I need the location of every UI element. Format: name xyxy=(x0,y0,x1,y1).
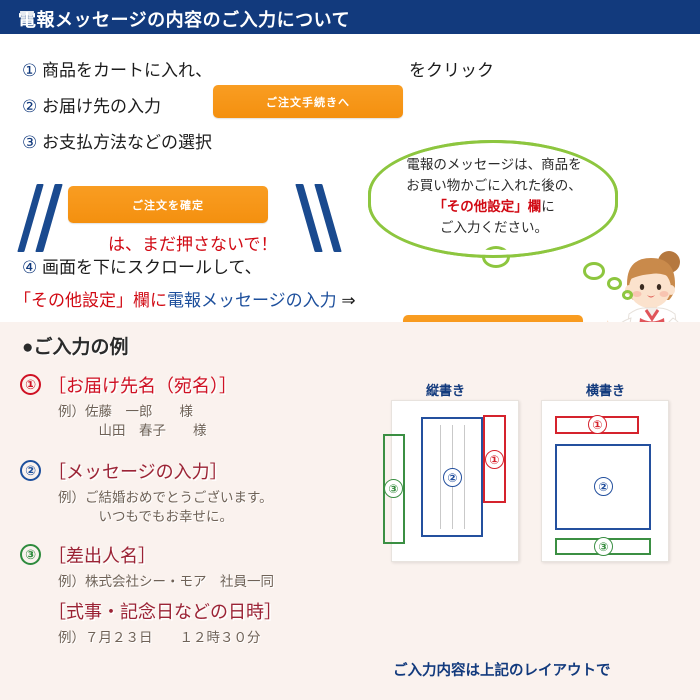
bubble-line-3-tail: に xyxy=(541,199,555,214)
horizontal-marker-1: ① xyxy=(588,415,607,434)
example-3-text: 例）株式会社シー・モア 社員一同 xyxy=(58,572,274,591)
bubble-line-3-highlight: 「その他設定」欄 xyxy=(433,199,541,214)
example-2-number-badge: ② xyxy=(20,460,41,481)
example-1-text: 例）佐藤 一郎 様 山田 春子 様 xyxy=(58,402,207,440)
step-1-row: ① 商品をカートに入れ、 xyxy=(22,56,212,81)
confirm-order-button-bottom[interactable]: ご注文を確定 xyxy=(403,315,583,322)
bubble-line-2: お買い物かごに入れた後の、 xyxy=(378,175,610,196)
vertical-marker-1: ① xyxy=(485,450,504,469)
vertical-marker-2: ② xyxy=(443,468,462,487)
thought-tail-circle-large xyxy=(583,262,605,280)
page-root: 電報メッセージの内容のご入力について ① 商品をカートに入れ、 ご注文手続きへ … xyxy=(0,0,700,700)
step-3-text: お支払方法などの選択 xyxy=(42,133,212,152)
thought-bubble-text: 電報のメッセージは、商品を お買い物かごに入れた後の、 「その他設定」欄に ご入… xyxy=(378,154,610,238)
step-2-text: お届け先の入力 xyxy=(42,97,161,116)
step-1-text-before: 商品をカートに入れ、 xyxy=(42,61,212,80)
thought-tail-circle-medium xyxy=(607,277,622,290)
instructions-panel: ① 商品をカートに入れ、 ご注文手続きへ をクリック ② お届け先の入力 ③ お… xyxy=(0,34,700,322)
vertical-marker-3: ③ xyxy=(384,479,403,498)
page-title: 電報メッセージの内容のご入力について xyxy=(18,6,350,32)
step-4-line-2-row: 「その他設定」欄に電報メッセージの入力 ⇒ xyxy=(14,286,356,311)
examples-heading: ●ご入力の例 xyxy=(22,332,128,359)
input-examples-panel: ●ご入力の例 ① ［お届け先名（宛名）］ 例）佐藤 一郎 様 山田 春子 様 ②… xyxy=(0,322,700,700)
example-3-label: ［差出人名］ xyxy=(48,542,156,568)
bubble-line-1: 電報のメッセージは、商品を xyxy=(378,154,610,175)
example-1-label: ［お届け先名（宛名）］ xyxy=(48,372,237,398)
step-3-number: ③ xyxy=(22,133,37,152)
step-1-text-after: をクリック xyxy=(409,56,494,81)
horizontal-marker-2: ② xyxy=(594,477,613,496)
layout-note: ご入力内容は上記のレイアウトで 印字されます。 xyxy=(393,616,611,700)
horizontal-layout-title: 横書き xyxy=(586,380,625,399)
step-2-row: ② お届け先の入力 xyxy=(22,92,161,117)
vertical-ruleline-1 xyxy=(440,425,441,529)
horizontal-marker-3: ③ xyxy=(594,537,613,556)
step-2-number: ② xyxy=(22,97,37,116)
bubble-line-3: 「その他設定」欄に xyxy=(378,196,610,217)
example-2-label: ［メッセージの入力］ xyxy=(48,458,228,484)
example-extra-text: 例）７月２３日 １２時３０分 xyxy=(58,628,261,647)
example-extra-label: ［式事・記念日などの日時］ xyxy=(48,598,282,624)
step-4-row: ④ 画面を下にスクロールして、 xyxy=(22,253,262,278)
step-1-number: ① xyxy=(22,61,37,80)
layout-note-line-1: ご入力内容は上記のレイアウトで xyxy=(393,660,611,682)
order-proceed-button[interactable]: ご注文手続きへ xyxy=(213,85,403,118)
example-1-number-badge: ① xyxy=(20,374,41,395)
step-4-line-1: 画面を下にスクロールして、 xyxy=(42,258,262,277)
vertical-ruleline-3 xyxy=(464,425,465,529)
step-4-number: ④ xyxy=(22,258,37,277)
example-3-number-badge: ③ xyxy=(20,544,41,565)
example-2-text: 例）ご結婚おめでとうございます。 いつもでもお幸せに。 xyxy=(58,488,273,526)
do-not-press-warning: は、まだ押さないで！ xyxy=(108,230,278,255)
other-settings-emphasis: 「その他設定」欄に xyxy=(14,291,167,310)
step-4-arrow-icon: ⇒ xyxy=(341,291,355,310)
step-3-row: ③ お支払方法などの選択 xyxy=(22,128,212,153)
confirm-order-button-warning[interactable]: ご注文を確定 xyxy=(68,186,268,223)
telegram-message-emphasis: 電報メッセージの入力 xyxy=(167,291,337,310)
bubble-line-4: ご入力ください。 xyxy=(378,217,610,238)
page-header: 電報メッセージの内容のご入力について xyxy=(0,0,700,34)
vertical-layout-title: 縦書き xyxy=(426,380,465,399)
thought-tail-circle-small xyxy=(622,290,633,300)
